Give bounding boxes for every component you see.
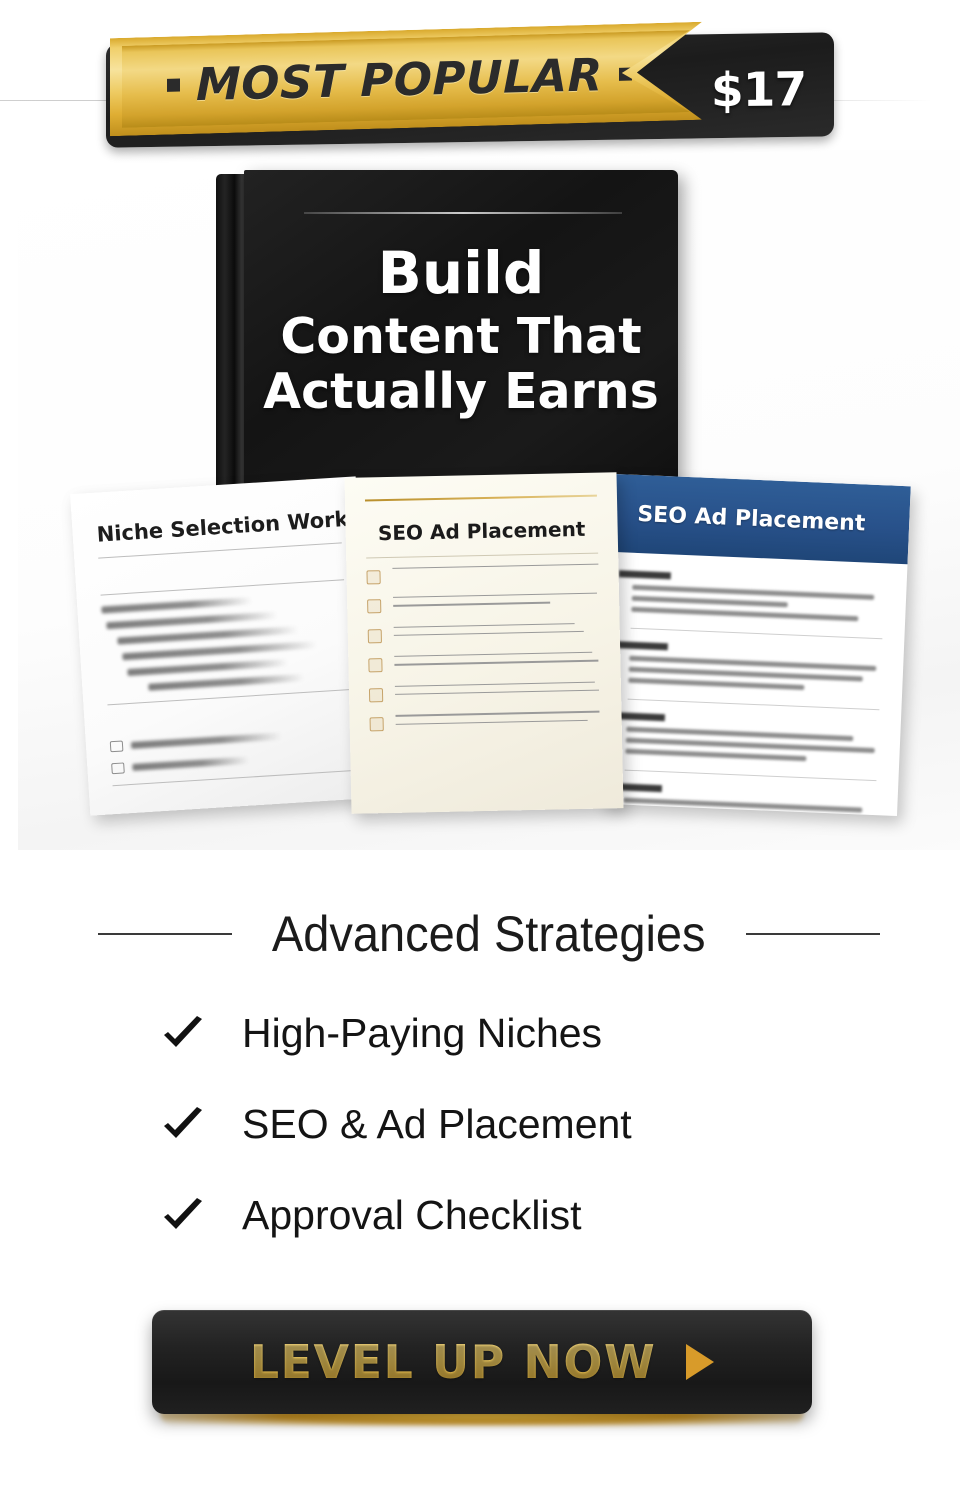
price-tag: $17 [662, 37, 832, 144]
square-bullet-icon-left [167, 78, 180, 91]
ebook-title-line-2: Content That [244, 311, 678, 364]
product-image: Build Content That Actually Earns Niche … [18, 150, 960, 850]
checklist-row [366, 564, 598, 585]
checkbox-row [111, 748, 355, 774]
guide-title: SEO Ad Placement [637, 501, 866, 536]
most-popular-badge: $17 MOST POPULAR [98, 22, 836, 144]
play-arrow-right-icon [686, 1344, 714, 1380]
worksheet-niche-selection: Niche Selection Worksheet [70, 476, 376, 815]
checklist-row [369, 681, 601, 702]
check-icon [160, 1107, 206, 1143]
divider [101, 579, 345, 595]
check-icon [160, 1198, 206, 1234]
checkbox-icon [368, 629, 382, 643]
guide-paragraph [628, 642, 882, 711]
ebook-rule-top [304, 212, 622, 214]
paragraph-marker [619, 570, 671, 579]
ebook-title-line-1: Build [244, 242, 678, 305]
check-icon [160, 1016, 206, 1052]
paragraph-marker [616, 641, 668, 650]
checkbox-icon [367, 599, 381, 613]
placeholder-text-line [132, 757, 249, 771]
placeholder-subheading [108, 701, 352, 730]
feature-item-approval-checklist: Approval Checklist [160, 1192, 820, 1239]
checkbox-icon [111, 762, 125, 774]
checklist-row [369, 711, 601, 732]
feature-item-high-paying-niches: High-Paying Niches [160, 1010, 820, 1057]
price-value: $17 [711, 62, 806, 118]
section-heading-text: Advanced Strategies [272, 905, 706, 963]
gold-rule [365, 495, 597, 502]
feature-item-seo-ad-placement: SEO & Ad Placement [160, 1101, 820, 1148]
guide-paragraph [622, 784, 876, 816]
badge-label-group: MOST POPULAR [167, 47, 632, 111]
checklist-row [367, 593, 599, 614]
worksheet-checklist-title: SEO Ad Placement [365, 517, 597, 546]
worksheet-seo-ad-placement-checklist: SEO Ad Placement [345, 472, 624, 814]
ruled-lines [393, 593, 599, 614]
checkbox-row [110, 726, 354, 752]
ruled-lines [395, 711, 601, 732]
guide-paragraph [631, 571, 885, 640]
ebook-title: Build Content That Actually Earns [244, 242, 678, 418]
checkbox-icon [110, 740, 124, 752]
level-up-now-button[interactable]: LEVEL UP NOW [152, 1310, 812, 1414]
worksheet-seo-ad-placement-guide: SEO Ad Placement [601, 474, 911, 816]
feature-label: High-Paying Niches [242, 1010, 602, 1057]
divider [113, 770, 357, 786]
placeholder-text-line [106, 612, 277, 630]
ruled-lines [394, 652, 600, 673]
divider [366, 553, 598, 559]
ruled-lines [395, 681, 601, 702]
ebook-title-line-3: Actually Earns [244, 366, 678, 419]
checkbox-icon [368, 658, 382, 672]
checkbox-icon [369, 688, 383, 702]
badge-ribbon-inner: MOST POPULAR [122, 30, 690, 128]
heading-rule-left [98, 933, 232, 935]
section-heading: Advanced Strategies [0, 905, 978, 963]
placeholder-subheading [99, 554, 343, 583]
checkbox-icon [370, 717, 384, 731]
feature-label: Approval Checklist [242, 1192, 582, 1239]
feature-list: High-Paying Niches SEO & Ad Placement Ap… [160, 1010, 820, 1283]
placeholder-text-line [122, 641, 317, 660]
placeholder-text-line [127, 659, 288, 676]
feature-label: SEO & Ad Placement [242, 1101, 632, 1148]
placeholder-text-line [148, 674, 304, 691]
ruled-lines [392, 564, 598, 577]
placeholder-text-line [101, 597, 252, 613]
cta-label: LEVEL UP NOW [250, 1335, 657, 1389]
ruled-lines [394, 622, 600, 643]
placeholder-text-line [117, 626, 298, 644]
checklist-row [368, 622, 600, 643]
offer-card: $17 MOST POPULAR Build Content That Actu… [0, 0, 978, 1508]
badge-label: MOST POPULAR [196, 48, 603, 111]
heading-rule-right [746, 933, 880, 935]
worksheet-niche-selection-title: Niche Selection Worksheet [96, 507, 341, 546]
guide-header-band: SEO Ad Placement [612, 474, 911, 564]
checkbox-icon [366, 570, 380, 584]
guide-paragraph [625, 713, 879, 782]
cta-container: LEVEL UP NOW [152, 1310, 812, 1426]
placeholder-text-line [131, 732, 282, 748]
checklist-row [368, 652, 600, 673]
guide-body [601, 552, 907, 816]
